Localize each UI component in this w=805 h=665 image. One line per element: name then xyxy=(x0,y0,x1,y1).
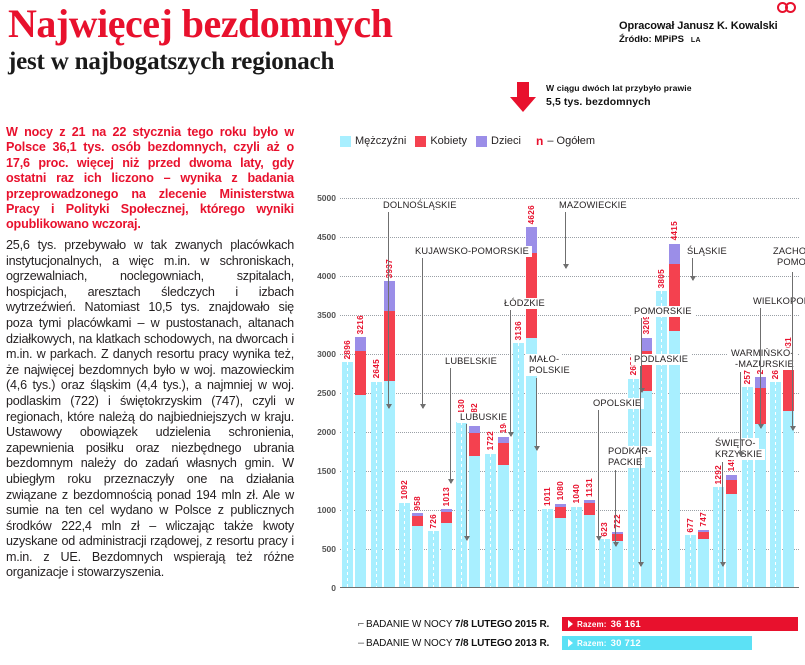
region-label: WARMIŃSKO- xyxy=(728,348,797,359)
bar-2013-dash xyxy=(347,362,348,588)
footer-total-value: 30 712 xyxy=(611,638,641,649)
footer-survey-label: BADANIE W NOCY 7/8 LUTEGO 2015 R. xyxy=(366,619,562,630)
region-label: DOLNOŚLĄSKIE xyxy=(380,200,460,211)
bar-group[interactable]: 623722 xyxy=(599,198,626,588)
bar-value-label-2015: 4415 xyxy=(670,221,679,240)
region-leader-line xyxy=(640,366,641,566)
region-label: ŁÓDZKIE xyxy=(501,298,548,309)
bar-2013[interactable] xyxy=(742,387,753,588)
bar-value-label-2013: 677 xyxy=(686,518,695,533)
segment-children xyxy=(726,475,737,480)
bar-2015[interactable] xyxy=(669,244,680,588)
bar-2015[interactable] xyxy=(441,509,452,588)
footer-tick-mark: – xyxy=(356,637,366,649)
bar-2013[interactable] xyxy=(371,382,382,588)
bar-2015[interactable] xyxy=(412,513,423,588)
footer-legend-row: –BADANIE W NOCY 7/8 LUTEGO 2013 R.Razem:… xyxy=(356,635,804,651)
bar-2015[interactable] xyxy=(584,500,595,588)
region-label: WIELKOPOLSKIE xyxy=(750,296,805,307)
segment-men xyxy=(441,523,452,588)
region-label: ŚWIĘTO- xyxy=(712,438,759,449)
headline-block: Najwięcej bezdomnych jest w najbogatszyc… xyxy=(8,2,628,76)
bar-2013[interactable] xyxy=(656,291,667,588)
page-title: Najwięcej bezdomnych xyxy=(8,2,628,46)
segment-men xyxy=(641,391,652,588)
region-label: KUJAWSKO-POMORSKIE xyxy=(412,246,532,257)
legend-label-men: Mężczyźni xyxy=(355,135,406,147)
legend-item-children: Dzieci xyxy=(476,135,521,147)
segment-children xyxy=(498,437,509,443)
segment-children xyxy=(441,509,452,512)
region-label: POMORSKIE xyxy=(631,306,695,317)
region-label: LUBELSKIE xyxy=(442,356,500,367)
legend-swatch-men xyxy=(340,136,351,147)
bar-2013-dash xyxy=(490,454,491,588)
region-leader-line xyxy=(740,372,741,456)
segment-men xyxy=(698,539,709,588)
bar-group[interactable]: 25762702 xyxy=(742,198,769,588)
bar-2013[interactable] xyxy=(685,535,696,588)
bar-2013-dash xyxy=(690,535,691,588)
region-label: ZACHODNIO- xyxy=(770,246,805,257)
segment-men xyxy=(612,541,623,588)
segment-women xyxy=(555,507,566,518)
callout-highlight: W ciągu dwóch lat przybyło prawie 5,5 ty… xyxy=(510,80,800,117)
segment-women xyxy=(469,433,480,456)
bar-2013[interactable] xyxy=(428,531,439,588)
bar-value-label-2013: 3136 xyxy=(514,321,523,340)
footer-total-caption: Razem: xyxy=(577,620,607,629)
legend-item-women: Kobiety xyxy=(415,135,467,147)
bar-2013-dash xyxy=(775,382,776,588)
bar-value-label-2015: 3216 xyxy=(356,315,365,334)
segment-women xyxy=(669,264,680,331)
region-label: OPOLSKIE xyxy=(590,398,644,409)
bar-2015[interactable] xyxy=(498,437,509,588)
region-leader-line xyxy=(536,378,537,450)
bar-value-label-2013: 623 xyxy=(600,522,609,537)
bar-2015[interactable] xyxy=(384,281,395,588)
y-axis-tick: 1000 xyxy=(296,505,340,515)
bar-2013-dash xyxy=(718,487,719,588)
bar-2013[interactable] xyxy=(571,507,582,588)
region-leader-line xyxy=(422,258,423,408)
segment-children xyxy=(669,244,680,264)
bar-2013-dash xyxy=(376,382,377,588)
segment-women xyxy=(612,534,623,541)
region-leader-line xyxy=(598,410,599,540)
bar-value-label-2013: 1040 xyxy=(572,484,581,503)
footer-total-badge: Razem:36 161 xyxy=(562,617,798,631)
bar-2013-dash xyxy=(404,503,405,588)
footer-tick-mark: ⌐ xyxy=(356,618,366,630)
legend-total-label: – Ogółem xyxy=(547,135,595,147)
y-axis-tick: 500 xyxy=(296,544,340,554)
segment-women xyxy=(412,516,423,525)
chart-container: Mężczyźni Kobiety Dzieci n – Ogółem 0500… xyxy=(296,160,801,610)
y-axis-tick: 4000 xyxy=(296,271,340,281)
bar-value-label-2013: 1092 xyxy=(400,480,409,499)
footer-survey-label: BADANIE W NOCY 7/8 LUTEGO 2013 R. xyxy=(366,638,562,649)
segment-women xyxy=(526,253,537,339)
bar-value-label-2013: 1011 xyxy=(543,487,552,506)
segment-men xyxy=(555,518,566,588)
region-label: LUBUSKIE xyxy=(457,412,510,423)
page-subtitle: jest w najbogatszych regionach xyxy=(8,48,628,76)
bar-2013[interactable] xyxy=(770,382,781,588)
bar-2013[interactable] xyxy=(513,343,524,588)
segment-women xyxy=(384,311,395,381)
bar-2013-dash xyxy=(661,291,662,588)
segment-men xyxy=(669,331,680,588)
region-label: ŚLĄSKIE xyxy=(684,246,730,257)
bar-2013-dash xyxy=(576,507,577,588)
byline: Opracował Janusz K. Kowalski Źródło: MPi… xyxy=(619,20,799,45)
bar-2015[interactable] xyxy=(698,530,709,588)
bar-2013[interactable] xyxy=(628,379,639,588)
callout-line-2: 5,5 tys. bezdomnych xyxy=(546,96,651,108)
bar-2013-dash xyxy=(547,509,548,588)
bar-2015[interactable] xyxy=(355,337,366,588)
bar-2013[interactable] xyxy=(342,362,353,588)
bar-value-label-2013: 726 xyxy=(429,514,438,529)
region-leader-line xyxy=(792,272,793,430)
bar-2015[interactable] xyxy=(469,426,480,588)
bar-2013-dash xyxy=(461,422,462,588)
region-leader-line xyxy=(641,318,642,392)
region-leader-line xyxy=(466,424,467,540)
bar-2013[interactable] xyxy=(542,509,553,588)
bar-2013-dash xyxy=(633,379,634,588)
body-paragraph: 25,6 tys. przebywało w tak zwanych placó… xyxy=(6,238,294,581)
segment-children xyxy=(384,281,395,311)
segment-men xyxy=(469,456,480,588)
footer-total-caption: Razem: xyxy=(577,639,607,648)
region-label: PODKAR- xyxy=(605,446,654,457)
bar-2013-dash xyxy=(518,343,519,588)
bar-2015[interactable] xyxy=(612,532,623,588)
bar-value-label-2015: 3209 xyxy=(642,315,651,334)
bar-value-label-2015: 1013 xyxy=(442,487,451,506)
y-axis-tick: 2500 xyxy=(296,388,340,398)
bar-value-label-2013: 1722 xyxy=(486,431,495,450)
callout-line-1: W ciągu dwóch lat przybyło prawie xyxy=(546,83,692,93)
footer-total-value: 36 161 xyxy=(611,619,641,630)
legend-total-marker: n xyxy=(536,134,543,148)
footer-survey-prefix: BADANIE W NOCY xyxy=(366,619,455,630)
bar-value-label-2015: 1080 xyxy=(556,481,565,500)
bar-value-label-2013: 3805 xyxy=(657,269,666,288)
segment-men xyxy=(355,395,366,588)
footer-survey-date: 7/8 LUTEGO 2013 R. xyxy=(455,638,549,649)
y-axis-tick: 1500 xyxy=(296,466,340,476)
publication-logo-icon xyxy=(777,2,799,13)
bar-value-label-2013: 2896 xyxy=(343,340,352,359)
segment-women xyxy=(726,480,737,495)
chart-x-axis xyxy=(340,587,799,588)
segment-children xyxy=(612,532,623,534)
segment-women xyxy=(584,503,595,515)
bar-group[interactable]: 28963216 xyxy=(342,198,369,588)
legend-item-men: Mężczyźni xyxy=(340,135,406,147)
bar-2013-dash xyxy=(747,387,748,588)
region-label: MAŁO- xyxy=(526,354,562,365)
bar-2013-dash xyxy=(604,539,605,588)
bar-value-label-2015: 1131 xyxy=(585,478,594,497)
y-axis-tick: 3500 xyxy=(296,310,340,320)
down-arrow-icon xyxy=(510,80,536,117)
region-label: -MAZURSKIE xyxy=(732,359,797,370)
region-leader-line xyxy=(565,212,566,268)
region-label: PODLASKIE xyxy=(631,354,691,365)
bar-2015[interactable] xyxy=(555,504,566,588)
segment-men xyxy=(412,526,423,588)
region-leader-line xyxy=(722,462,723,566)
y-axis-tick: 3000 xyxy=(296,349,340,359)
bar-value-label-2015: 4626 xyxy=(527,205,536,224)
byline-source: Źródło: MPiPSLA xyxy=(619,34,799,45)
region-leader-line xyxy=(615,470,616,546)
region-leader-line xyxy=(692,258,693,280)
footer-survey-date: 7/8 LUTEGO 2015 R. xyxy=(455,619,549,630)
chart-plot-area: 0500100015002000250030003500400045005000… xyxy=(340,198,799,588)
region-label: MAZOWIECKIE xyxy=(556,200,630,211)
segment-men xyxy=(726,494,737,588)
region-leader-line xyxy=(450,368,451,483)
segment-men xyxy=(498,465,509,588)
y-axis-tick: 2000 xyxy=(296,427,340,437)
segment-women xyxy=(441,512,452,523)
legend-swatch-children xyxy=(476,136,487,147)
play-triangle-icon xyxy=(568,639,573,647)
callout-text: W ciągu dwóch lat przybyło prawie 5,5 ty… xyxy=(546,80,692,117)
segment-children xyxy=(355,337,366,351)
segment-women xyxy=(698,532,709,539)
region-leader-line xyxy=(760,308,761,428)
segment-women xyxy=(498,443,509,465)
bar-group[interactable]: 10401131 xyxy=(571,198,598,588)
lead-paragraph: W nocy z 21 na 22 stycznia tego roku był… xyxy=(6,125,294,233)
footer-total-badge: Razem:30 712 xyxy=(562,636,752,650)
byline-author: Opracował Janusz K. Kowalski xyxy=(619,20,799,32)
byline-initials: LA xyxy=(691,37,701,44)
segment-men xyxy=(384,381,395,588)
segment-women xyxy=(355,351,366,395)
region-leader-line xyxy=(510,310,511,436)
region-label: POMORSKIE xyxy=(774,257,805,268)
bar-2013-dash xyxy=(433,531,434,588)
legend-label-children: Dzieci xyxy=(491,135,521,147)
legend-swatch-women xyxy=(415,136,426,147)
bar-value-label-2015: 3937 xyxy=(385,259,394,278)
y-axis-tick: 5000 xyxy=(296,193,340,203)
y-axis-tick: 0 xyxy=(296,583,340,593)
legend-label-women: Kobiety xyxy=(430,135,467,147)
segment-children xyxy=(698,530,709,532)
footer-survey-prefix: BADANIE W NOCY xyxy=(366,638,455,649)
bar-group[interactable]: 38054415 xyxy=(656,198,683,588)
footer-legend-row: ⌐BADANIE W NOCY 7/8 LUTEGO 2015 R.Razem:… xyxy=(356,616,804,632)
chart-footer-legend: ⌐BADANIE W NOCY 7/8 LUTEGO 2015 R.Razem:… xyxy=(356,616,804,654)
bar-2013[interactable] xyxy=(399,503,410,588)
bar-value-label-2015: 747 xyxy=(699,512,708,527)
segment-children xyxy=(412,513,423,516)
bar-2015[interactable] xyxy=(726,475,737,588)
segment-children xyxy=(584,500,595,503)
segment-children xyxy=(641,338,652,351)
byline-source-text: Źródło: MPiPS xyxy=(619,34,684,45)
play-triangle-icon xyxy=(568,620,573,628)
legend-item-total: n – Ogółem xyxy=(536,134,595,148)
chart-legend: Mężczyźni Kobiety Dzieci n – Ogółem xyxy=(340,134,595,148)
bar-value-label-2013: 2645 xyxy=(372,359,381,378)
segment-children xyxy=(469,426,480,433)
bar-group[interactable]: 26453937 xyxy=(371,198,398,588)
y-axis-tick: 4500 xyxy=(296,232,340,242)
region-leader-line xyxy=(388,212,389,408)
bar-value-label-2015: 958 xyxy=(413,496,422,511)
segment-children xyxy=(555,504,566,508)
segment-men xyxy=(783,411,794,588)
region-label: POLSKIE xyxy=(526,365,573,376)
bar-2013[interactable] xyxy=(485,454,496,588)
bar-2013[interactable] xyxy=(599,539,610,588)
segment-men xyxy=(584,515,595,588)
